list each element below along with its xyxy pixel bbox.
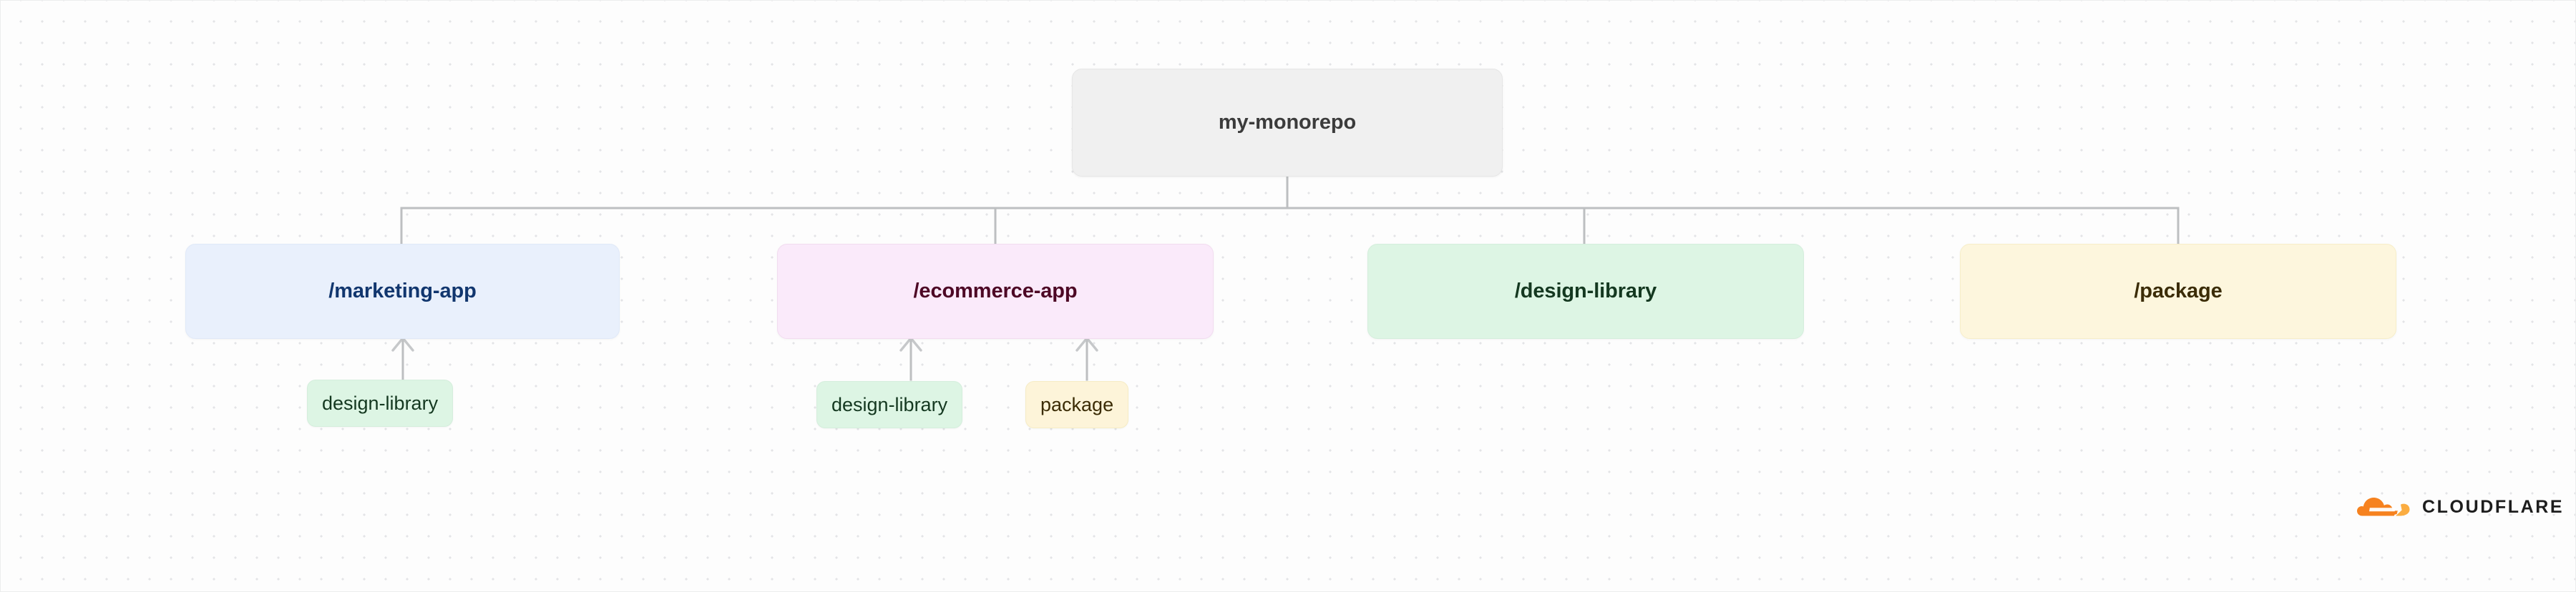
dep-tag-label-design-library-2: design-library (831, 395, 947, 415)
node-label-ecommerce-app: /ecommerce-app (913, 279, 1077, 304)
node-ecommerce-app[interactable]: /ecommerce-app (777, 244, 1214, 339)
arrowhead-ecommerce-design-library (901, 338, 921, 350)
node-package[interactable]: /package (1960, 244, 2396, 339)
arrowhead-marketing-design-library (393, 338, 413, 350)
diagram-canvas: my-monorepo /marketing-app /ecommerce-ap… (0, 0, 2576, 592)
dep-tag-ecommerce-design-library[interactable]: design-library (816, 381, 962, 428)
cloudflare-cloud-icon (2356, 494, 2412, 520)
dep-tag-marketing-design-library[interactable]: design-library (307, 380, 453, 427)
node-my-monorepo[interactable]: my-monorepo (1072, 69, 1503, 177)
dep-tag-label-package: package (1040, 395, 1113, 415)
cloudflare-wordmark: CLOUDFLARE (2422, 498, 2564, 516)
cloudflare-logo: CLOUDFLARE (2356, 494, 2564, 520)
arrowhead-ecommerce-package (1077, 338, 1097, 350)
node-label-my-monorepo: my-monorepo (1219, 110, 1356, 135)
node-label-package: /package (2134, 279, 2222, 304)
node-design-library[interactable]: /design-library (1367, 244, 1804, 339)
dep-tag-label-design-library: design-library (322, 394, 438, 413)
node-label-design-library: /design-library (1515, 279, 1657, 304)
node-label-marketing-app: /marketing-app (328, 279, 476, 304)
node-marketing-app[interactable]: /marketing-app (185, 244, 620, 339)
dep-tag-ecommerce-package[interactable]: package (1025, 381, 1128, 428)
